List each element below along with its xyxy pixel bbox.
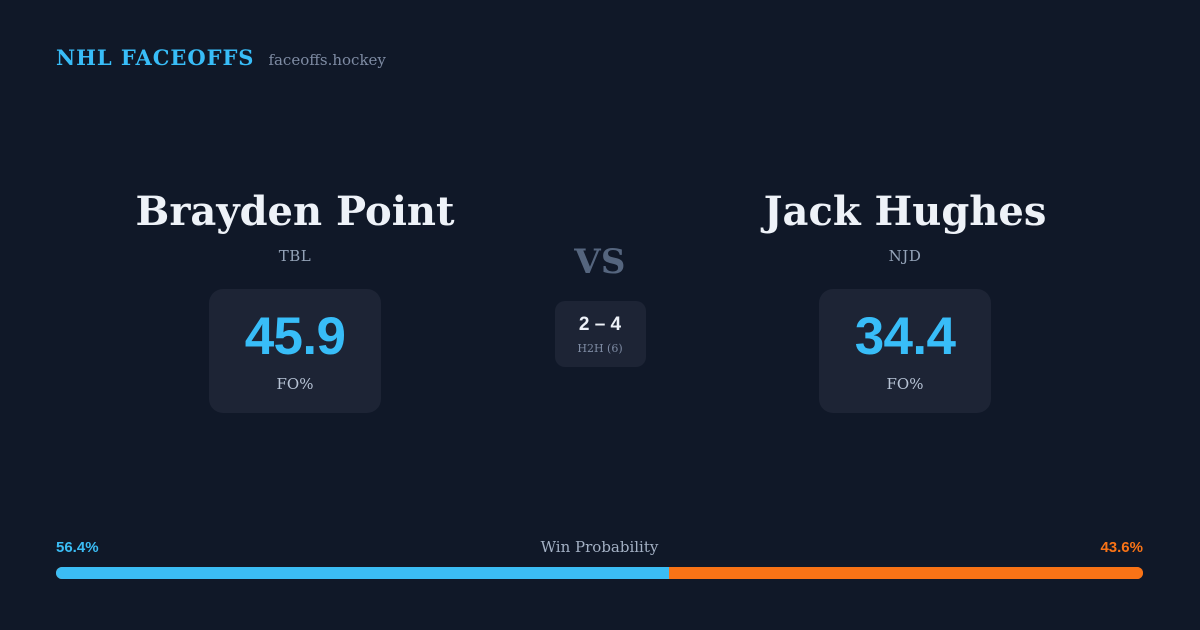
win-probability-labels: 56.4% Win Probability 43.6% <box>56 540 1143 555</box>
faceoff-percent-value-right: 34.4 <box>855 310 956 363</box>
head-to-head-label: H2H (6) <box>577 343 622 354</box>
faceoff-percent-label-left: FO% <box>277 377 314 392</box>
head-to-head-score: 2 – 4 <box>579 315 621 334</box>
site-header: NHL FACEOFFS faceoffs.hockey <box>56 47 386 68</box>
brand-title: NHL FACEOFFS <box>56 47 254 68</box>
player-name-left: Brayden Point <box>136 190 455 233</box>
matchup-row: Brayden Point TBL 45.9 FO% VS 2 – 4 H2H … <box>0 190 1200 413</box>
player-team-right: NJD <box>889 249 922 264</box>
win-probability-left-value: 56.4% <box>56 540 99 555</box>
win-probability-title: Win Probability <box>541 540 659 555</box>
player-card-right[interactable]: Jack Hughes NJD 34.4 FO% <box>695 190 1115 413</box>
faceoff-stat-card-right: 34.4 FO% <box>819 289 991 413</box>
faceoff-stat-card-left: 45.9 FO% <box>209 289 381 413</box>
win-probability-right-value: 43.6% <box>1100 540 1143 555</box>
faceoff-percent-value-left: 45.9 <box>245 310 346 363</box>
player-name-right: Jack Hughes <box>764 190 1047 233</box>
player-card-left[interactable]: Brayden Point TBL 45.9 FO% <box>85 190 505 413</box>
win-probability-bar <box>56 567 1143 579</box>
site-domain: faceoffs.hockey <box>268 53 385 68</box>
faceoff-percent-label-right: FO% <box>887 377 924 392</box>
head-to-head-card: 2 – 4 H2H (6) <box>555 301 646 367</box>
win-probability-section: 56.4% Win Probability 43.6% <box>56 540 1143 579</box>
win-probability-bar-left-segment <box>56 567 669 579</box>
win-probability-bar-right-segment <box>669 567 1143 579</box>
versus-block: VS 2 – 4 H2H (6) <box>505 190 695 367</box>
player-team-left: TBL <box>279 249 312 264</box>
versus-label: VS <box>574 245 626 279</box>
